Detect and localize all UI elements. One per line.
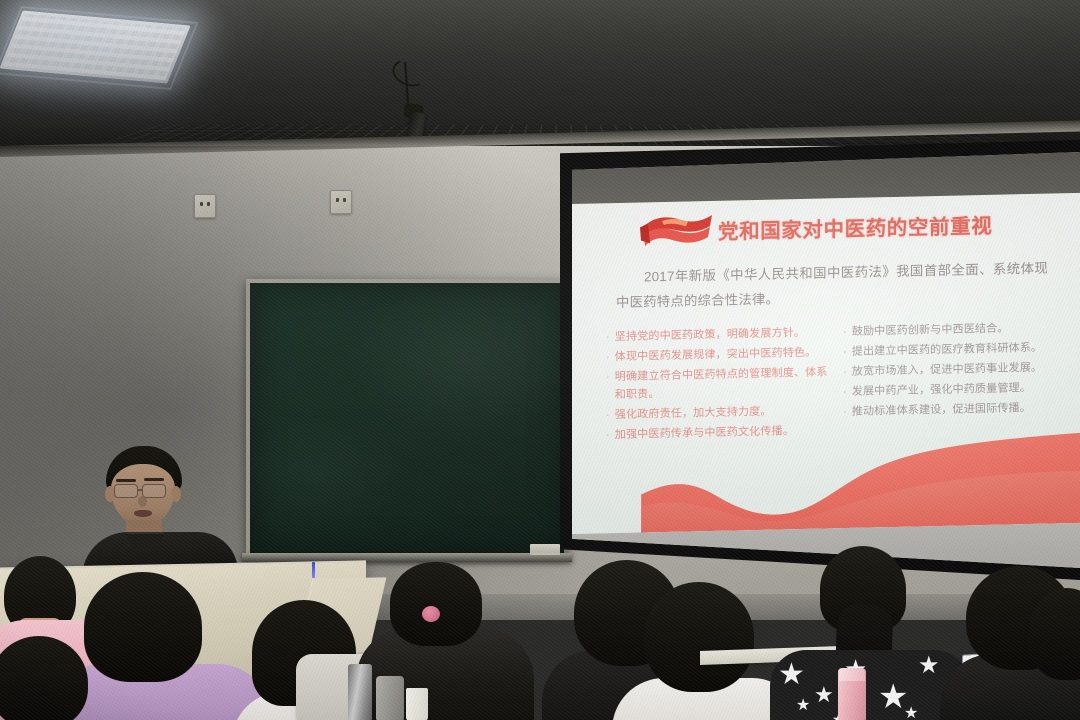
- bullet-item: · 体现中医药发展规律，突出中医药特色。: [606, 344, 829, 366]
- bullet-item: · 放宽市场准入，促进中医药事业发展。: [843, 359, 1066, 381]
- presenter-nose: [138, 496, 147, 507]
- pink-thermos: [838, 668, 866, 720]
- bullet-item: · 坚持党的中医药政策，明确发展方针。: [606, 324, 829, 346]
- red-ribbon-icon: [640, 212, 714, 250]
- presenter-ear-right: [171, 486, 181, 502]
- bullet-text: 发展中药产业，强化中药质量管理。: [852, 380, 1031, 401]
- bullet-marker: ·: [843, 344, 847, 362]
- projection-screen: 党和国家对中医药的空前重视 2017年新版《中华人民共和国中医药法》我国首部全面…: [560, 140, 1080, 580]
- bullet-item: · 强化政府责任，加大支持力度。: [606, 402, 829, 424]
- slide-title: 党和国家对中医药的空前重视: [718, 209, 992, 245]
- paper-cup: [406, 688, 428, 720]
- red-mountain-wave-graphic: [572, 427, 1080, 534]
- bullet-marker: ·: [843, 324, 847, 342]
- bullet-item: · 推动标准体系建设，促进国际传播。: [843, 399, 1066, 421]
- bullet-marker: ·: [843, 364, 847, 382]
- slide-subtitle: 2017年新版《中华人民共和国中医药法》我国首部全面、系统体现中医药特点的综合性…: [616, 256, 1048, 315]
- presenter-eyebrow-left: [116, 479, 136, 482]
- audience-head: [0, 636, 88, 720]
- audience-member: [1028, 588, 1080, 720]
- bullet-text: 推动标准体系建设，促进国际传播。: [852, 400, 1031, 421]
- audience-head: [1028, 588, 1080, 680]
- bullet-marker: ·: [843, 384, 847, 402]
- lecture-hall-photo: 党和国家对中医药的空前重视 2017年新版《中华人民共和国中医药法》我国首部全面…: [0, 0, 1080, 720]
- audience-head: [390, 562, 482, 646]
- presenter-eyebrow-right: [144, 478, 164, 481]
- wall-outlet-icon: [330, 190, 352, 214]
- bullet-item: · 明确建立符合中医药特点的管理制度、体系和职责。: [606, 364, 829, 404]
- chalk-tray: [242, 553, 572, 562]
- chalk-eraser: [530, 544, 560, 555]
- eyeglasses-bridge: [138, 489, 143, 491]
- hair-scrunchie: [422, 606, 440, 622]
- bullet-marker: ·: [843, 404, 847, 422]
- bullet-marker: ·: [606, 349, 610, 367]
- eyeglasses-icon: [114, 484, 138, 498]
- bullet-item: · 鼓励中医药创新与中西医结合。: [843, 319, 1066, 341]
- bullet-text: 强化政府责任，加大支持力度。: [615, 403, 772, 424]
- green-chalkboard: [246, 279, 568, 557]
- bullet-text: 体现中医药发展规律，突出中医药特色。: [615, 345, 817, 367]
- screen-surface: 党和国家对中医药的空前重视 2017年新版《中华人民共和国中医药法》我国首部全面…: [572, 152, 1080, 568]
- steel-thermos: [348, 664, 372, 720]
- water-bottle: [376, 676, 404, 720]
- wall-outlet-icon: [194, 194, 216, 218]
- thermos-cap: [839, 668, 865, 681]
- bullet-column-left: · 坚持党的中医药政策，明确发展方针。 · 体现中医药发展规律，突出中医药特色。…: [606, 324, 829, 446]
- bullet-marker: ·: [606, 369, 610, 404]
- chalkboard-sheen: [250, 283, 564, 553]
- bullet-text: 鼓励中医药创新与中西医结合。: [852, 320, 1009, 341]
- bullet-marker: ·: [606, 407, 610, 425]
- bullet-marker: ·: [606, 329, 610, 347]
- bullet-column-right: · 鼓励中医药创新与中西医结合。 · 提出建立中医药的医疗教育科研体系。 · 放…: [843, 319, 1066, 441]
- audience-head: [644, 582, 754, 692]
- slide-bullet-columns: · 坚持党的中医药政策，明确发展方针。 · 体现中医药发展规律，突出中医药特色。…: [606, 319, 1066, 447]
- bullet-text: 坚持党的中医药政策，明确发展方针。: [615, 325, 805, 347]
- presenter-mouth: [134, 510, 152, 517]
- bullet-text: 明确建立符合中医药特点的管理制度、体系和职责。: [615, 364, 829, 404]
- bullet-text: 提出建立中医药的医疗教育科研体系。: [852, 340, 1042, 362]
- bullet-text: 放宽市场准入，促进中医药事业发展。: [852, 360, 1042, 382]
- blue-pen: [312, 562, 315, 578]
- audience-member: [0, 636, 130, 720]
- projected-slide: 党和国家对中医药的空前重视 2017年新版《中华人民共和国中医药法》我国首部全面…: [572, 193, 1080, 534]
- bullet-item: · 提出建立中医药的医疗教育科研体系。: [843, 339, 1066, 361]
- bullet-item: · 发展中药产业，强化中药质量管理。: [843, 379, 1066, 401]
- eyeglasses-icon: [142, 484, 166, 498]
- audience-member-star-jacket: ★ ★ ★ ★ ★ ★ ★ ★ ★: [782, 546, 968, 720]
